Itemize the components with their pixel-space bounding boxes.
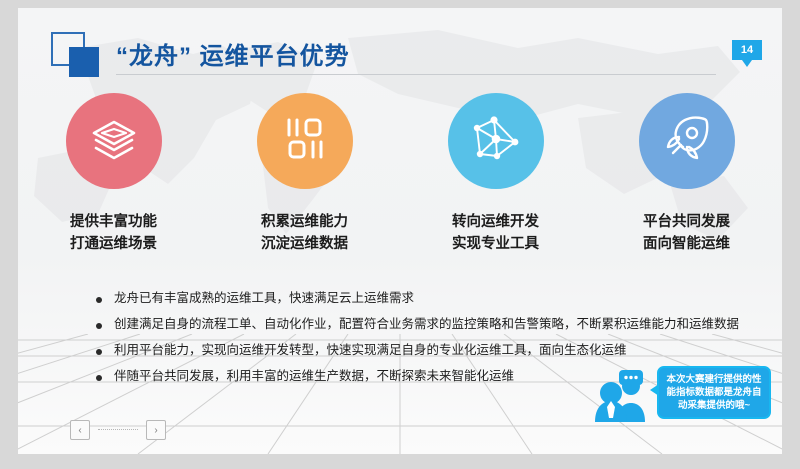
bullet-dot-icon — [96, 323, 102, 329]
nav-dotted-line — [98, 429, 138, 431]
feature-caption-line1: 平台共同发展 — [643, 211, 730, 233]
feature-caption: 提供丰富功能 打通运维场景 — [70, 211, 157, 255]
feature-item: 积累运维能力 沉淀运维数据 — [209, 93, 400, 255]
title-divider — [116, 74, 716, 75]
feature-item: 提供丰富功能 打通运维场景 — [18, 93, 209, 255]
bullet-dot-icon — [96, 297, 102, 303]
feature-caption: 平台共同发展 面向智能运维 — [643, 211, 730, 255]
feature-item: 转向运维开发 实现专业工具 — [400, 93, 591, 255]
feature-icon-circle — [448, 93, 544, 189]
list-item: 创建满足自身的流程工单、自动化作业，配置符合业务需求的监控策略和告警策略，不断累… — [96, 317, 782, 332]
feature-caption-line1: 转向运维开发 — [452, 211, 539, 233]
logo-mark-icon — [51, 32, 103, 76]
list-item: 利用平台能力，实现向运维开发转型，快速实现满足自身的专业化运维工具，面向生态化运… — [96, 343, 782, 358]
feature-caption-line2: 打通运维场景 — [70, 233, 157, 255]
layers-icon — [88, 113, 140, 170]
feature-caption-line2: 沉淀运维数据 — [261, 233, 348, 255]
next-slide-button[interactable]: › — [146, 420, 166, 440]
page-number-badge: 14 — [732, 40, 762, 60]
feature-caption-line1: 提供丰富功能 — [70, 211, 157, 233]
bullet-text: 利用平台能力，实现向运维开发转型，快速实现满足自身的专业化运维工具，面向生态化运… — [114, 343, 627, 358]
bullet-text: 伴随平台共同发展，利用丰富的运维生产数据，不断探索未来智能化运维 — [114, 369, 514, 384]
mascot-tooltip: 本次大赛建行提供的性能指标数据都是龙舟自动采集提供的哦~ — [657, 366, 771, 419]
bullet-dot-icon — [96, 349, 102, 355]
binary-digits-icon — [281, 115, 329, 168]
feature-caption-line2: 面向智能运维 — [643, 233, 730, 255]
people-avatar-icon — [593, 370, 653, 422]
rocket-icon — [661, 113, 713, 170]
network-graph-icon — [470, 113, 522, 170]
feature-icon-circle — [639, 93, 735, 189]
page-title: “龙舟” 运维平台优势 — [116, 36, 350, 71]
feature-icon-circle — [257, 93, 353, 189]
feature-caption-line2: 实现专业工具 — [452, 233, 539, 255]
slide-navigation: ‹ › — [70, 420, 166, 440]
bullet-dot-icon — [96, 375, 102, 381]
feature-caption-line1: 积累运维能力 — [261, 211, 348, 233]
prev-slide-button[interactable]: ‹ — [70, 420, 90, 440]
bullet-text: 龙舟已有丰富成熟的运维工具，快速满足云上运维需求 — [114, 291, 414, 306]
slide-canvas: “龙舟” 运维平台优势 14 提供丰富功能 打通运维场景 — [18, 8, 782, 454]
logo-square-solid — [69, 47, 99, 77]
feature-caption: 积累运维能力 沉淀运维数据 — [261, 211, 348, 255]
slide-header: “龙舟” 运维平台优势 14 — [18, 8, 782, 82]
list-item: 龙舟已有丰富成熟的运维工具，快速满足云上运维需求 — [96, 291, 782, 306]
feature-row: 提供丰富功能 打通运维场景 积累运维能力 — [18, 93, 782, 255]
feature-item: 平台共同发展 面向智能运维 — [591, 93, 782, 255]
bullet-text: 创建满足自身的流程工单、自动化作业，配置符合业务需求的监控策略和告警策略，不断累… — [114, 317, 739, 332]
feature-caption: 转向运维开发 实现专业工具 — [452, 211, 539, 255]
feature-icon-circle — [66, 93, 162, 189]
